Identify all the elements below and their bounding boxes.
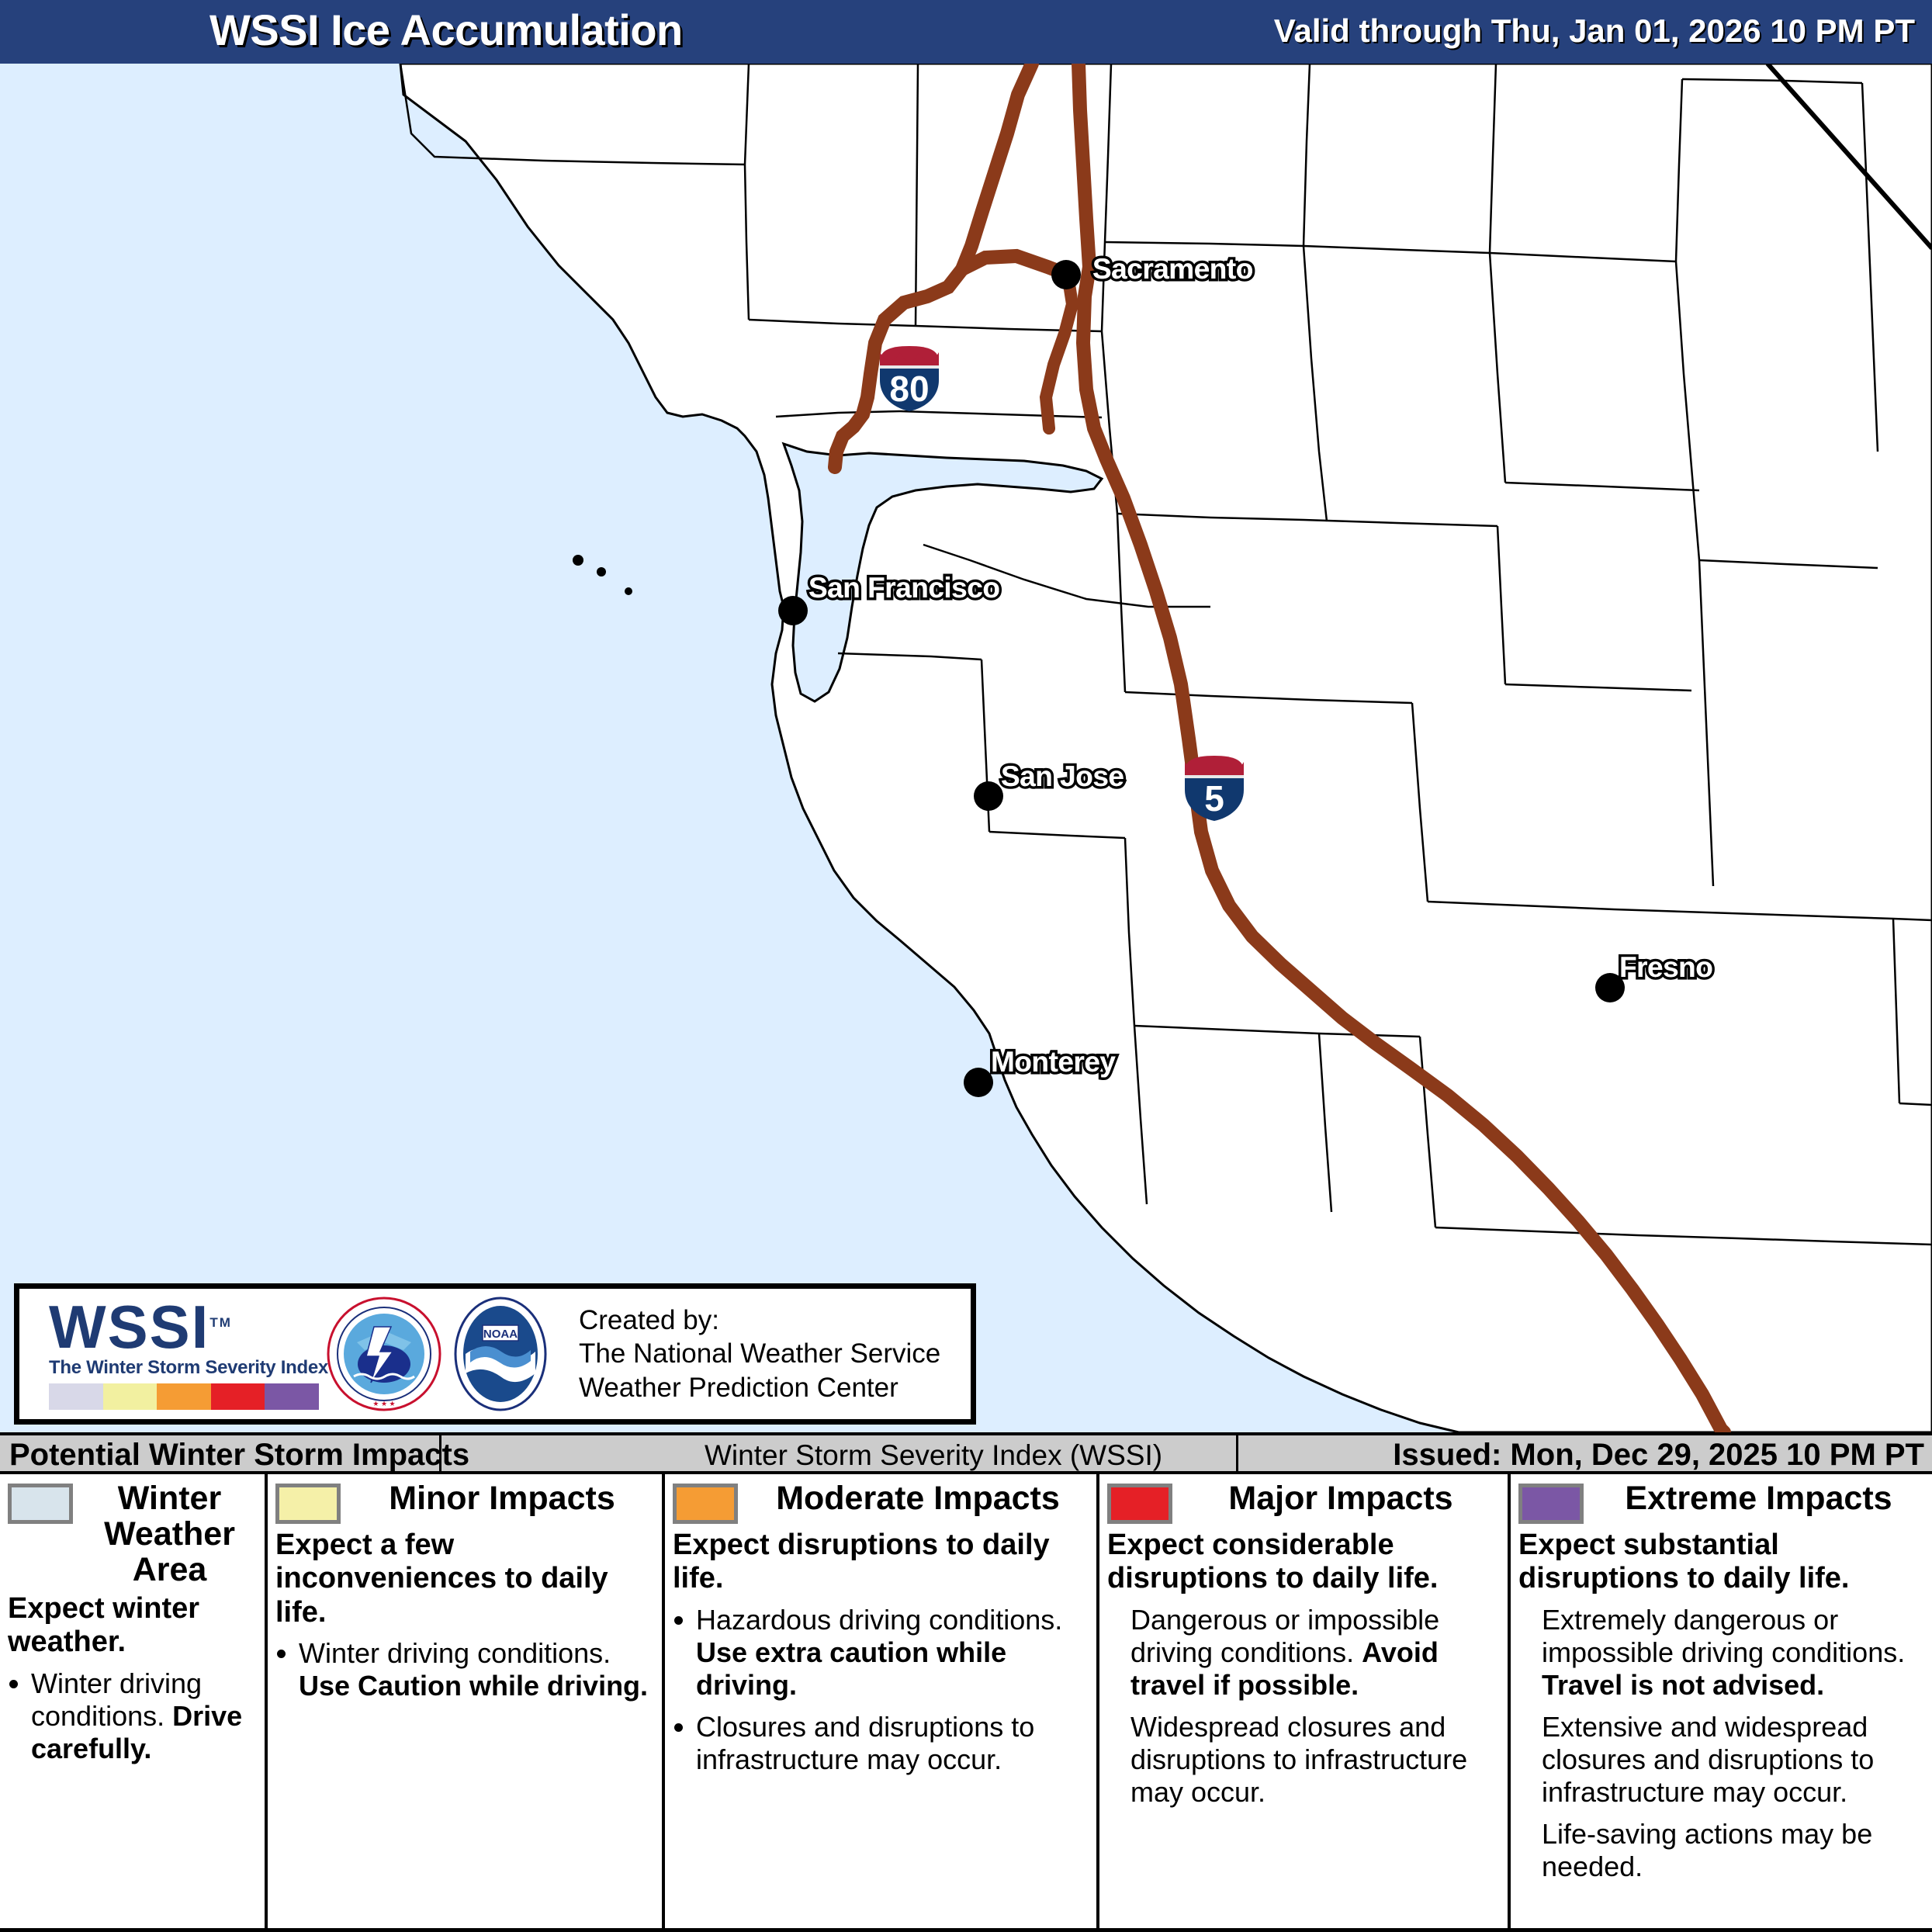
impacts-strip-divider-2 xyxy=(1236,1435,1238,1474)
legend-bullet-text: Extensive and widespread closures and di… xyxy=(1542,1711,1874,1808)
page-header: WSSI Ice Accumulation Valid through Thu,… xyxy=(0,0,1932,64)
farallon-island-3 xyxy=(625,587,632,595)
legend-bullet-text: Life-saving actions may be needed. xyxy=(1542,1818,1872,1882)
legend-header-extreme-impacts: Extreme Impacts xyxy=(1518,1480,1924,1524)
legend-header-moderate-impacts: Moderate Impacts xyxy=(673,1480,1089,1524)
legend-intro-moderate-impacts: Expect disruptions to daily life. xyxy=(673,1529,1089,1596)
city-label-fresno-fill: Fresno xyxy=(1619,951,1712,984)
wssi-ice-accumulation-map-page: WSSI Ice Accumulation Valid through Thu,… xyxy=(0,0,1932,1932)
created-by-line-2: The National Weather Service xyxy=(579,1337,940,1370)
legend-bullet-bold: Use Caution while driving. xyxy=(299,1670,648,1702)
svg-text:★ ★ ★: ★ ★ ★ xyxy=(372,1400,395,1407)
city-dot-san-francisco xyxy=(778,596,808,625)
noaa-seal-icon: NOAA xyxy=(442,1296,559,1412)
wssi-scale-swatch-major xyxy=(211,1383,265,1410)
city-dot-sacramento xyxy=(1051,260,1081,289)
legend-swatch-major-impacts xyxy=(1107,1484,1172,1524)
legend-swatch-extreme-impacts xyxy=(1518,1484,1584,1524)
interstate-5-shield-icon[interactable]: 5 xyxy=(1182,754,1247,822)
legend-swatch-winter-weather-area xyxy=(8,1484,73,1524)
legend-bullet: Extensive and widespread closures and di… xyxy=(1518,1711,1924,1809)
wssi-wordmark: WSSITM xyxy=(49,1298,326,1356)
legend-bullet-text: Hazardous driving conditions. xyxy=(696,1604,1062,1636)
bullet-dot-icon xyxy=(674,1616,683,1625)
farallon-island-2 xyxy=(597,567,606,576)
legend-bullet: Winter driving conditions. Use Caution w… xyxy=(275,1637,654,1702)
legend-intro-winter-weather-area: Expect winter weather. xyxy=(8,1592,257,1660)
legend-bullets-major-impacts: Dangerous or impossible driving conditio… xyxy=(1107,1604,1500,1809)
wssi-scale-swatch-moderate xyxy=(157,1383,211,1410)
legend-swatch-moderate-impacts xyxy=(673,1484,738,1524)
legend-bullet-bold: Use extra caution while driving. xyxy=(696,1636,1006,1701)
bullet-dot-icon xyxy=(277,1650,286,1658)
legend-bullet: Winter driving conditions. Drive careful… xyxy=(8,1667,257,1765)
interstate-5-shield-number: 5 xyxy=(1182,777,1247,819)
legend-bullets-moderate-impacts: Hazardous driving conditions. Use extra … xyxy=(673,1604,1089,1777)
page-title: WSSI Ice Accumulation xyxy=(209,5,683,55)
legend-intro-major-impacts: Expect considerable disruptions to daily… xyxy=(1107,1529,1500,1596)
impacts-strip-left-label: Potential Winter Storm Impacts xyxy=(9,1438,469,1473)
legend-bullet: Extremely dangerous or impossible drivin… xyxy=(1518,1604,1924,1702)
legend-header-major-impacts: Major Impacts xyxy=(1107,1480,1500,1524)
legend-intro-minor-impacts: Expect a few inconveniences to daily lif… xyxy=(275,1529,654,1629)
city-dot-monterey xyxy=(964,1068,993,1097)
bullet-dot-icon xyxy=(9,1680,18,1688)
legend-column-moderate-impacts[interactable]: Moderate Impacts Expect disruptions to d… xyxy=(665,1474,1099,1928)
interstate-80-shield-number: 80 xyxy=(877,368,942,410)
legend-title-moderate-impacts: Moderate Impacts xyxy=(747,1480,1089,1516)
map-canvas[interactable]: Sacramento Sacramento San Francisco San … xyxy=(0,64,1932,1432)
legend-intro-extreme-impacts: Expect substantial disruptions to daily … xyxy=(1518,1529,1924,1596)
svg-text:NOAA: NOAA xyxy=(483,1328,518,1341)
legend-title-minor-impacts: Minor Impacts xyxy=(350,1480,654,1516)
wssi-trademark-symbol: TM xyxy=(209,1315,232,1330)
impacts-strip-right-label: Issued: Mon, Dec 29, 2025 10 PM PT xyxy=(1393,1438,1924,1473)
wssi-logo: WSSITM The Winter Storm Severity Index xyxy=(19,1298,326,1410)
legend-column-extreme-impacts[interactable]: Extreme Impacts Expect substantial disru… xyxy=(1511,1474,1932,1928)
wssi-scale-swatch-minor xyxy=(103,1383,158,1410)
city-dot-san-jose xyxy=(974,781,1003,811)
national-weather-service-seal-icon: ★ ★ ★ xyxy=(326,1296,442,1412)
valid-through-label: Valid through Thu, Jan 01, 2026 10 PM PT xyxy=(1274,12,1915,50)
legend-title-winter-weather-area: Winter Weather Area xyxy=(82,1480,257,1587)
legend-bullet: Dangerous or impossible driving conditio… xyxy=(1107,1604,1500,1702)
legend-bullet-text: Extremely dangerous or impossible drivin… xyxy=(1542,1604,1905,1668)
impacts-legend: Winter Weather Area Expect winter weathe… xyxy=(0,1474,1932,1932)
impacts-strip-divider-1 xyxy=(439,1435,441,1474)
legend-bullet: Closures and disruptions to infrastructu… xyxy=(673,1711,1089,1776)
legend-bullet: Hazardous driving conditions. Use extra … xyxy=(673,1604,1089,1702)
legend-bullet: Life-saving actions may be needed. xyxy=(1518,1818,1924,1883)
legend-swatch-minor-impacts xyxy=(275,1484,341,1524)
legend-bullets-extreme-impacts: Extremely dangerous or impossible drivin… xyxy=(1518,1604,1924,1884)
city-label-san-jose-fill: San Jose xyxy=(1001,760,1124,793)
legend-bullet-text: Widespread closures and disruptions to i… xyxy=(1130,1711,1467,1808)
legend-bullet-bold: Travel is not advised. xyxy=(1542,1669,1824,1701)
impacts-strip-center-label: Winter Storm Severity Index (WSSI) xyxy=(705,1439,1162,1472)
city-label-san-francisco-fill: San Francisco xyxy=(808,572,999,604)
legend-bullets-minor-impacts: Winter driving conditions. Use Caution w… xyxy=(275,1637,654,1702)
city-label-sacramento-fill: Sacramento xyxy=(1092,253,1253,286)
legend-bullet-text: Winter driving conditions. xyxy=(299,1637,611,1669)
wssi-wordmark-text: WSSI xyxy=(49,1293,209,1361)
wssi-scale-swatch-extreme xyxy=(265,1383,319,1410)
bullet-dot-icon xyxy=(674,1723,683,1732)
legend-header-winter-weather-area: Winter Weather Area xyxy=(8,1480,257,1587)
city-label-monterey-fill: Monterey xyxy=(991,1046,1115,1079)
legend-column-minor-impacts[interactable]: Minor Impacts Expect a few inconvenience… xyxy=(268,1474,665,1928)
created-by-line-3: Weather Prediction Center xyxy=(579,1371,940,1404)
legend-title-major-impacts: Major Impacts xyxy=(1182,1480,1500,1516)
interstate-80-shield-icon[interactable]: 80 xyxy=(877,345,942,413)
impacts-strip: Potential Winter Storm Impacts Winter St… xyxy=(0,1432,1932,1474)
map-geography xyxy=(0,64,1932,1432)
legend-bullet: Widespread closures and disruptions to i… xyxy=(1107,1711,1500,1809)
created-by-block: Created by: The National Weather Service… xyxy=(579,1304,940,1404)
legend-bullets-winter-weather-area: Winter driving conditions. Drive careful… xyxy=(8,1667,257,1765)
legend-column-major-impacts[interactable]: Major Impacts Expect considerable disrup… xyxy=(1099,1474,1511,1928)
wssi-credits-box: WSSITM The Winter Storm Severity Index ★… xyxy=(14,1283,976,1425)
legend-column-winter-weather-area[interactable]: Winter Weather Area Expect winter weathe… xyxy=(0,1474,268,1928)
farallon-island-1 xyxy=(573,555,583,566)
wssi-scale-swatch-winter-weather xyxy=(49,1383,103,1410)
legend-header-minor-impacts: Minor Impacts xyxy=(275,1480,654,1524)
legend-bullet-text: Closures and disruptions to infrastructu… xyxy=(696,1711,1034,1775)
wssi-color-scale xyxy=(49,1383,319,1410)
legend-title-extreme-impacts: Extreme Impacts xyxy=(1593,1480,1924,1516)
created-by-line-1: Created by: xyxy=(579,1304,940,1337)
